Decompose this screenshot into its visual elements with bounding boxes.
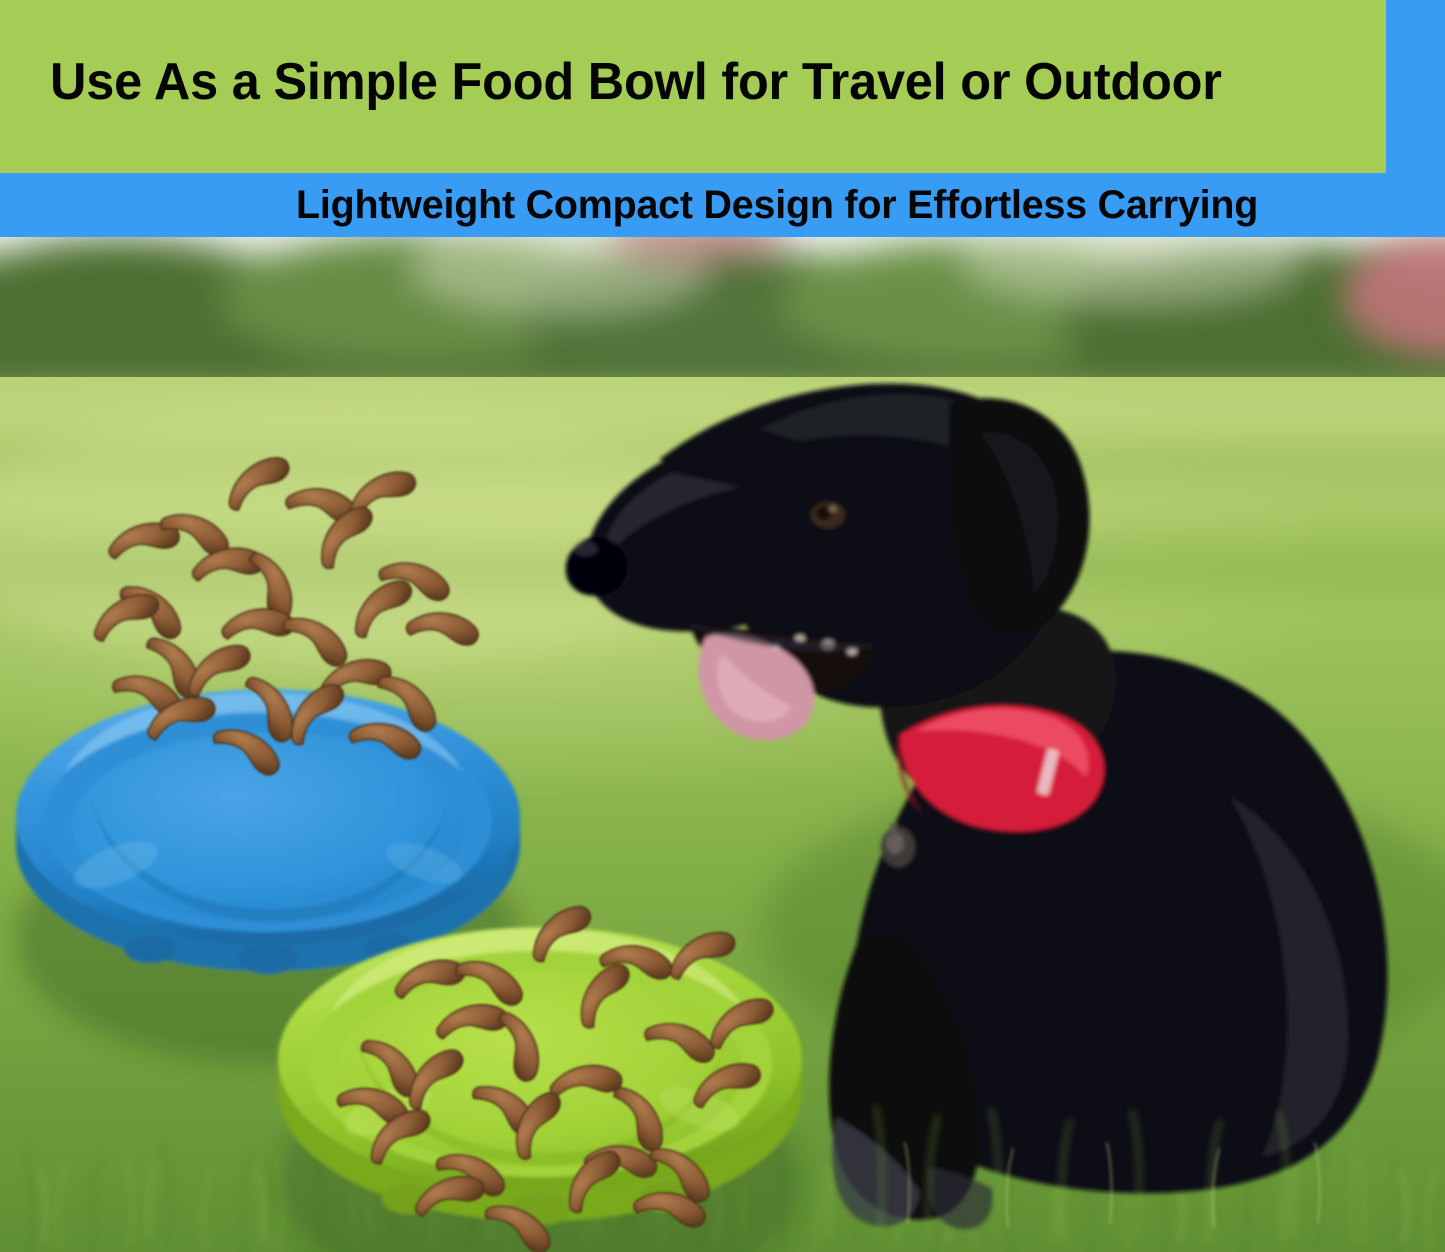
product-feature-image: Use As a Simple Food Bowl for Travel or … [0,0,1445,1252]
headline-banner-right-fill [1386,0,1445,173]
headline-text: Use As a Simple Food Bowl for Travel or … [50,56,1330,108]
lifestyle-photo [0,237,1445,1252]
subheadline-text: Lightweight Compact Design for Effortles… [296,185,1419,225]
